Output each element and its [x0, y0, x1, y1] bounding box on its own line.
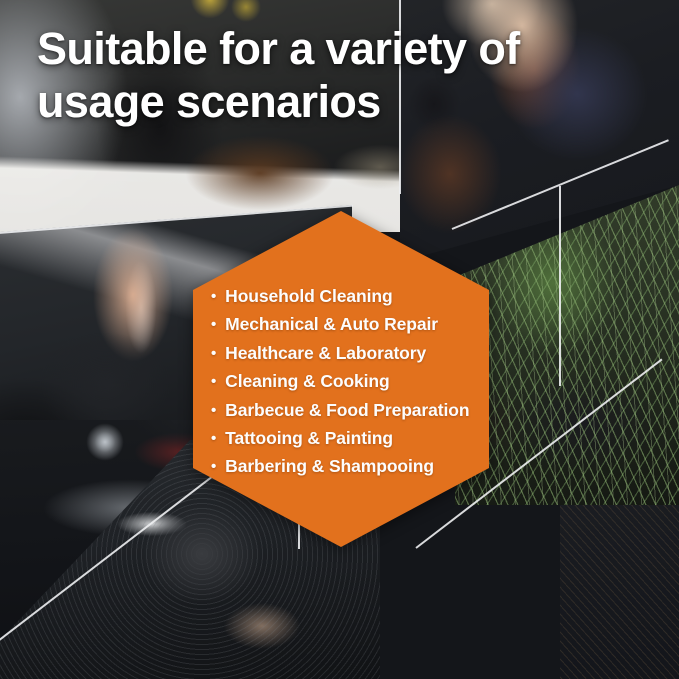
list-item: • Tattooing & Painting: [211, 425, 473, 453]
bullet-icon: •: [211, 284, 216, 310]
product-feature-banner: • Household Cleaning • Mechanical & Auto…: [0, 0, 679, 679]
usage-scenarios-callout: • Household Cleaning • Mechanical & Auto…: [193, 211, 489, 547]
usage-scenarios-list: • Household Cleaning • Mechanical & Auto…: [211, 283, 473, 482]
photo-chef-slicing-steak-image: [0, 0, 400, 232]
bullet-icon: •: [211, 398, 216, 424]
list-item: • Barbecue & Food Preparation: [211, 397, 473, 425]
list-item-label: Cleaning & Cooking: [225, 368, 389, 394]
list-item-label: Household Cleaning: [225, 283, 392, 309]
list-item-label: Tattooing & Painting: [225, 425, 393, 451]
bullet-icon: •: [211, 454, 216, 480]
list-item: • Healthcare & Laboratory: [211, 340, 473, 368]
bullet-icon: •: [211, 341, 216, 367]
list-item-label: Barbering & Shampooing: [225, 453, 434, 479]
list-item-label: Healthcare & Laboratory: [225, 340, 426, 366]
list-item: • Cleaning & Cooking: [211, 368, 473, 396]
bullet-icon: •: [211, 312, 216, 338]
list-item: • Mechanical & Auto Repair: [211, 311, 473, 339]
list-item-label: Mechanical & Auto Repair: [225, 311, 438, 337]
panel-seam-plant-right: [559, 186, 561, 386]
bullet-icon: •: [211, 426, 216, 452]
bullet-icon: •: [211, 369, 216, 395]
list-item-label: Barbecue & Food Preparation: [225, 397, 469, 423]
panel-seam-top-vertical: [399, 0, 401, 194]
list-item: • Household Cleaning: [211, 283, 473, 311]
list-item: • Barbering & Shampooing: [211, 453, 473, 481]
photo-chef-slicing-steak: [0, 0, 400, 232]
